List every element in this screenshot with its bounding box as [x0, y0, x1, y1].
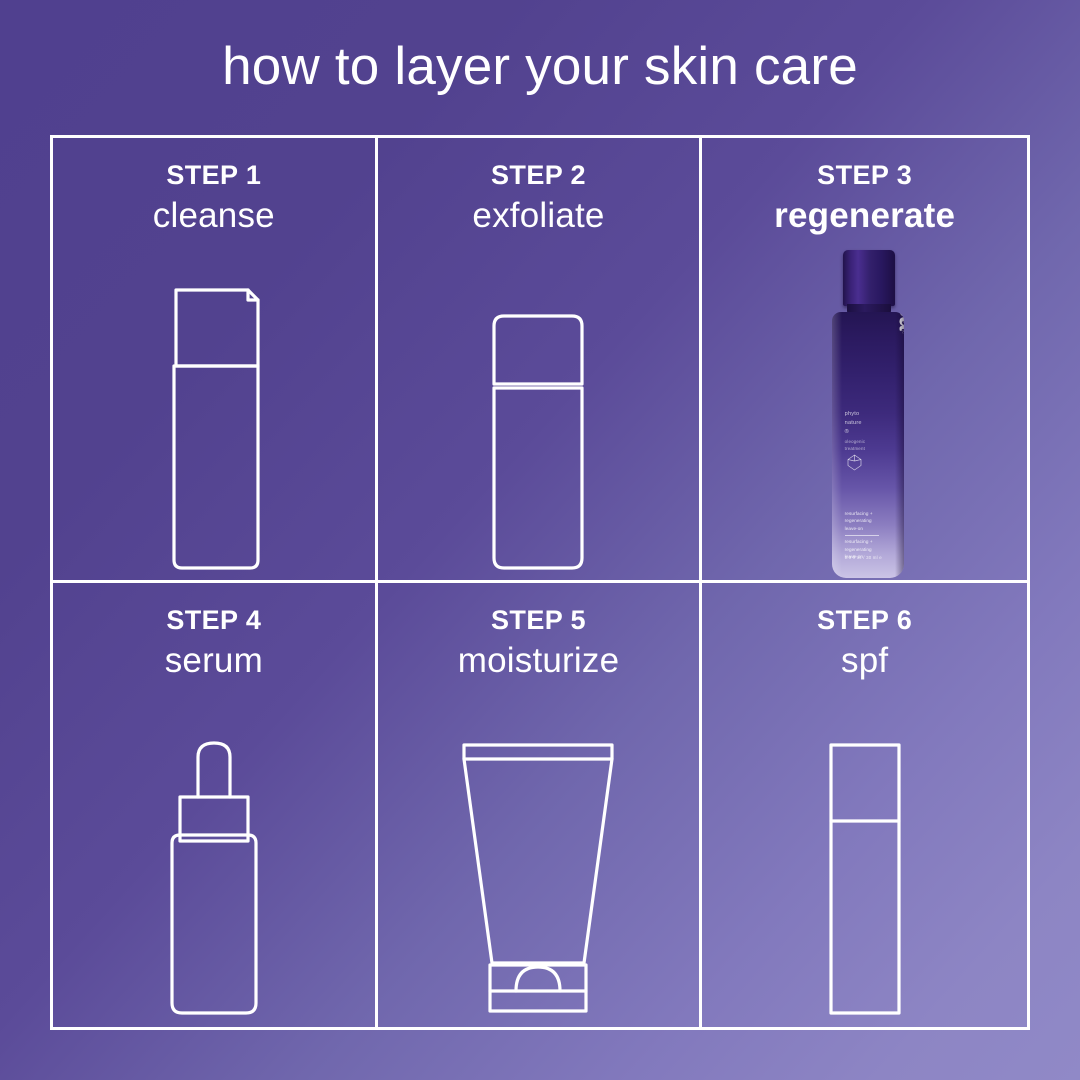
product-description: resurfacing + regenerating leave-on resu…: [845, 510, 879, 560]
product-line-name-2: nature: [845, 419, 866, 428]
product-body: dermalogica professional grade skin care…: [832, 312, 904, 578]
product-cap: [843, 250, 895, 306]
dropper-bottle-icon: [53, 693, 375, 1023]
step-number: STEP 5: [378, 605, 700, 636]
step-name: serum: [53, 641, 375, 681]
product-line-name-3: ®: [845, 428, 866, 437]
phyto-nature-diamond-icon: [847, 454, 862, 471]
step-cell-1[interactable]: STEP 1 cleanse: [53, 138, 378, 583]
product-desc-4: resurfacing +: [845, 538, 879, 545]
product-volume: 1.0 fl oz / 30 ml e: [845, 555, 882, 560]
product-divider: [845, 535, 879, 536]
cleanser-bottle-icon: [53, 248, 375, 578]
step-number: STEP 2: [378, 160, 700, 191]
step-name: spf: [702, 641, 1027, 681]
step-number: STEP 3: [702, 160, 1027, 191]
product-desc-1: resurfacing +: [845, 510, 879, 517]
product-desc-5: regenerating: [845, 546, 879, 553]
product-line-sub-2: treatment: [845, 445, 866, 452]
infographic-canvas: how to layer your skin care STEP 1 clean…: [0, 0, 1080, 1080]
step-number: STEP 1: [53, 160, 375, 191]
step-cell-4[interactable]: STEP 4 serum: [53, 583, 378, 1028]
step-cell-3[interactable]: STEP 3 regenerate dermalogica profession…: [702, 138, 1027, 583]
step-cell-2[interactable]: STEP 2 exfoliate: [378, 138, 703, 583]
exfoliant-jar-icon: [378, 248, 700, 578]
cream-tube-icon: [378, 693, 700, 1023]
product-line-sub-1: oleogenic: [845, 438, 866, 445]
step-name: regenerate: [702, 196, 1027, 236]
product-line-name-1: phyto: [845, 410, 866, 419]
page-title: how to layer your skin care: [0, 38, 1080, 96]
product-brand-name: dermalogica: [895, 312, 904, 330]
spf-bottle-icon: [702, 693, 1027, 1023]
step-name: moisturize: [378, 641, 700, 681]
step-name: exfoliate: [378, 196, 700, 236]
dermalogica-product-photo: dermalogica professional grade skin care…: [822, 250, 908, 580]
product-brand-tagline: professional grade skin care by The Inte…: [901, 312, 904, 334]
step-cell-6[interactable]: STEP 6 spf: [702, 583, 1027, 1028]
product-line-label: phyto nature ® oleogenic treatment: [845, 410, 866, 452]
step-name: cleanse: [53, 196, 375, 236]
step-number: STEP 6: [702, 605, 1027, 636]
product-desc-3: leave-on: [845, 525, 879, 532]
product-desc-2: regenerating: [845, 517, 879, 524]
steps-grid: STEP 1 cleanse STEP 2 exfoliate: [50, 135, 1030, 1030]
step-number: STEP 4: [53, 605, 375, 636]
step-cell-5[interactable]: STEP 5 moisturize: [378, 583, 703, 1028]
